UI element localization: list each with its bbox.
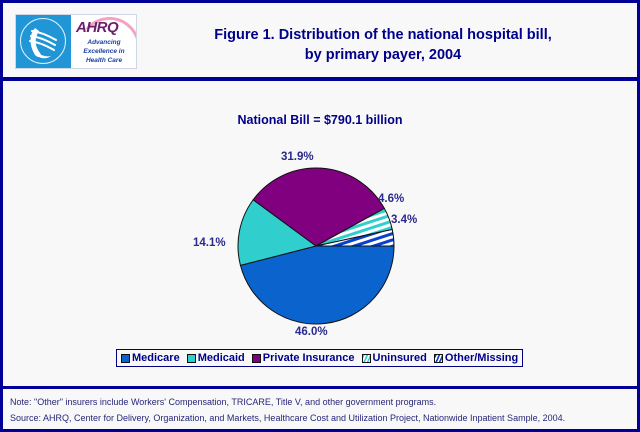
pie-slices — [238, 168, 394, 324]
page-title-line2: by primary payer, 2004 — [143, 45, 623, 65]
legend-item-uninsured[interactable]: Uninsured — [362, 352, 427, 364]
figure-footer: Note: "Other" insurers include Workers' … — [3, 386, 637, 429]
footnote-source: Source: AHRQ, Center for Delivery, Organ… — [10, 410, 637, 426]
hhs-eagle-icon — [16, 15, 71, 68]
legend-swatch-icon — [434, 354, 443, 363]
figure-header: AHRQ Advancing Excellence in Health Care… — [3, 3, 637, 81]
figure-panel: AHRQ Advancing Excellence in Health Care… — [0, 0, 640, 432]
pie-label-other-missing: 3.4% — [391, 214, 417, 226]
ahrq-tagline: Advancing Excellence in Health Care — [71, 38, 136, 65]
agency-logo: AHRQ Advancing Excellence in Health Care — [15, 14, 137, 69]
legend-item-medicaid[interactable]: Medicaid — [187, 352, 245, 364]
ahrq-tagline-line3: Health Care — [71, 56, 136, 65]
footnote-note: Note: "Other" insurers include Workers' … — [10, 394, 637, 410]
ahrq-wordmark: AHRQ — [76, 20, 134, 36]
pie-label-uninsured: 4.6% — [378, 193, 404, 205]
legend-swatch-icon — [252, 354, 261, 363]
ahrq-tagline-line2: Excellence in — [71, 47, 136, 56]
legend-swatch-icon — [362, 354, 371, 363]
legend-item-other-missing[interactable]: Other/Missing — [434, 352, 518, 364]
hhs-seal-icon — [16, 15, 71, 68]
legend-label: Other/Missing — [445, 352, 518, 364]
legend-swatch-icon — [187, 354, 196, 363]
pie-label-medicaid: 14.1% — [193, 237, 226, 249]
chart-area: National Bill = $790.1 billion 31.9% 4.6… — [3, 81, 637, 386]
legend-swatch-icon — [121, 354, 130, 363]
page-title: Figure 1. Distribution of the national h… — [143, 25, 623, 65]
pie-label-medicare: 46.0% — [295, 326, 328, 338]
page-title-line1: Figure 1. Distribution of the national h… — [143, 25, 623, 45]
chart-legend: MedicareMedicaidPrivate InsuranceUninsur… — [116, 349, 523, 367]
legend-label: Private Insurance — [263, 352, 355, 364]
legend-label: Uninsured — [373, 352, 427, 364]
legend-item-private-insurance[interactable]: Private Insurance — [252, 352, 355, 364]
ahrq-logo: AHRQ Advancing Excellence in Health Care — [71, 15, 136, 68]
legend-label: Medicaid — [198, 352, 245, 364]
pie-chart-svg — [3, 81, 637, 356]
pie-chart: 31.9% 4.6% 3.4% 14.1% 46.0% — [3, 81, 637, 356]
legend-label: Medicare — [132, 352, 180, 364]
legend-item-medicare[interactable]: Medicare — [121, 352, 180, 364]
ahrq-tagline-line1: Advancing — [71, 38, 136, 47]
pie-label-private-insurance: 31.9% — [281, 151, 314, 163]
